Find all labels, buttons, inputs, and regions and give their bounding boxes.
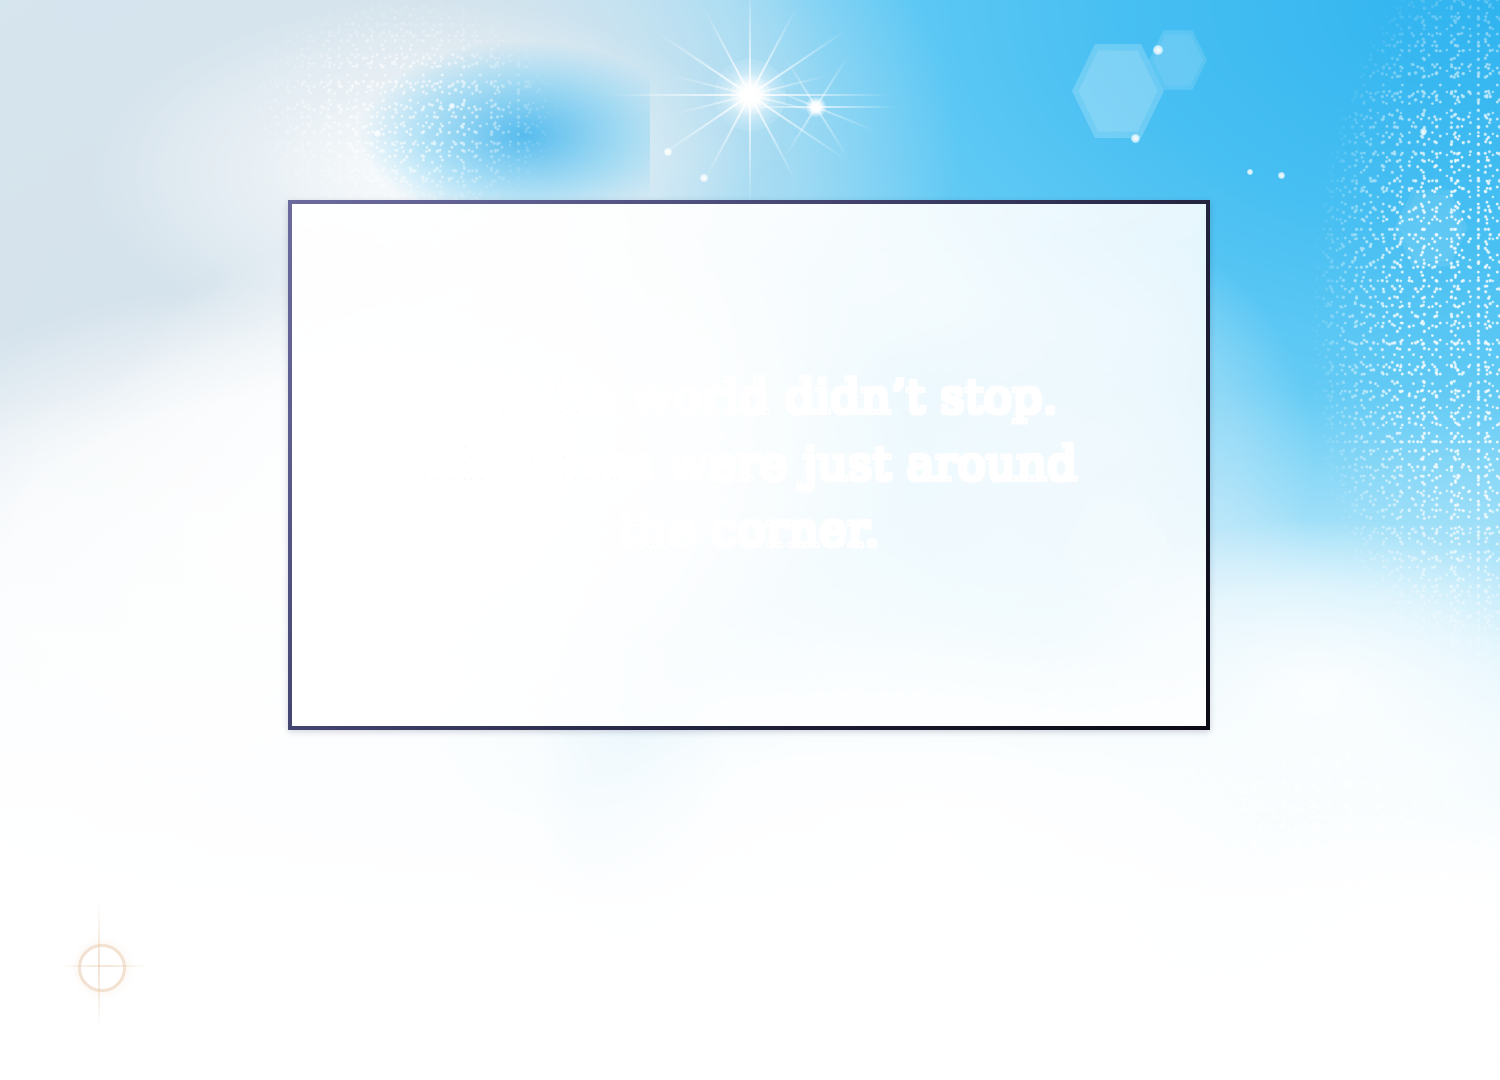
golden-flare-spike-horizontal [58,965,150,967]
comic-page-scene: But the world didn’t stop. Midterms were… [0,0,1500,1080]
sparkle-dot [664,148,672,156]
small-starburst-core [806,97,826,117]
cloud-top-ridge [230,0,650,210]
speckled-cloud-top [250,0,580,200]
small-flare-ray-diag-a [783,56,848,159]
starburst-core [730,75,770,115]
sparkle-dot [1247,169,1253,175]
sparkle-dot [700,174,708,182]
golden-flare-spike-vertical [98,900,100,1030]
sparkle-dot [1420,128,1427,135]
flare-ray-diag-c [703,8,797,182]
caption-panel: But the world didn’t stop. Midterms were… [288,200,1210,730]
golden-flare-ring-icon [78,944,126,992]
flare-ray-vertical [749,0,751,205]
speckled-cloud-bottom-right [1070,670,1500,1080]
caption-text: But the world didn’t stop. Midterms were… [421,370,1078,558]
flare-ray-diag-e [670,74,830,116]
small-flare-ray-diag-b [783,56,848,159]
flare-ray-diag-f [670,74,830,116]
starburst-halo [714,59,786,131]
small-flare-ray-horizontal [736,106,896,108]
caption-text-block: But the world didn’t stop. Midterms were… [292,365,1206,565]
hex-bokeh-icon-2 [1149,29,1207,91]
sparkle-dot [1153,45,1163,55]
hex-bokeh-icon-4 [1394,188,1468,268]
sparkle-dot [449,103,455,109]
hex-bokeh-icon-1 [1072,42,1164,140]
sparkle-dot [374,130,381,137]
flare-ray-diag-b [654,30,846,160]
flare-ray-diag-d [703,8,797,182]
small-flare-ray-diag-c [756,82,875,132]
speckled-cloud-right-band [1210,0,1500,760]
flare-ray-diag-a [654,30,846,160]
flare-ray-horizontal [610,94,890,96]
sparkle-dot [1131,134,1140,143]
sparkle-dot [1278,172,1285,179]
